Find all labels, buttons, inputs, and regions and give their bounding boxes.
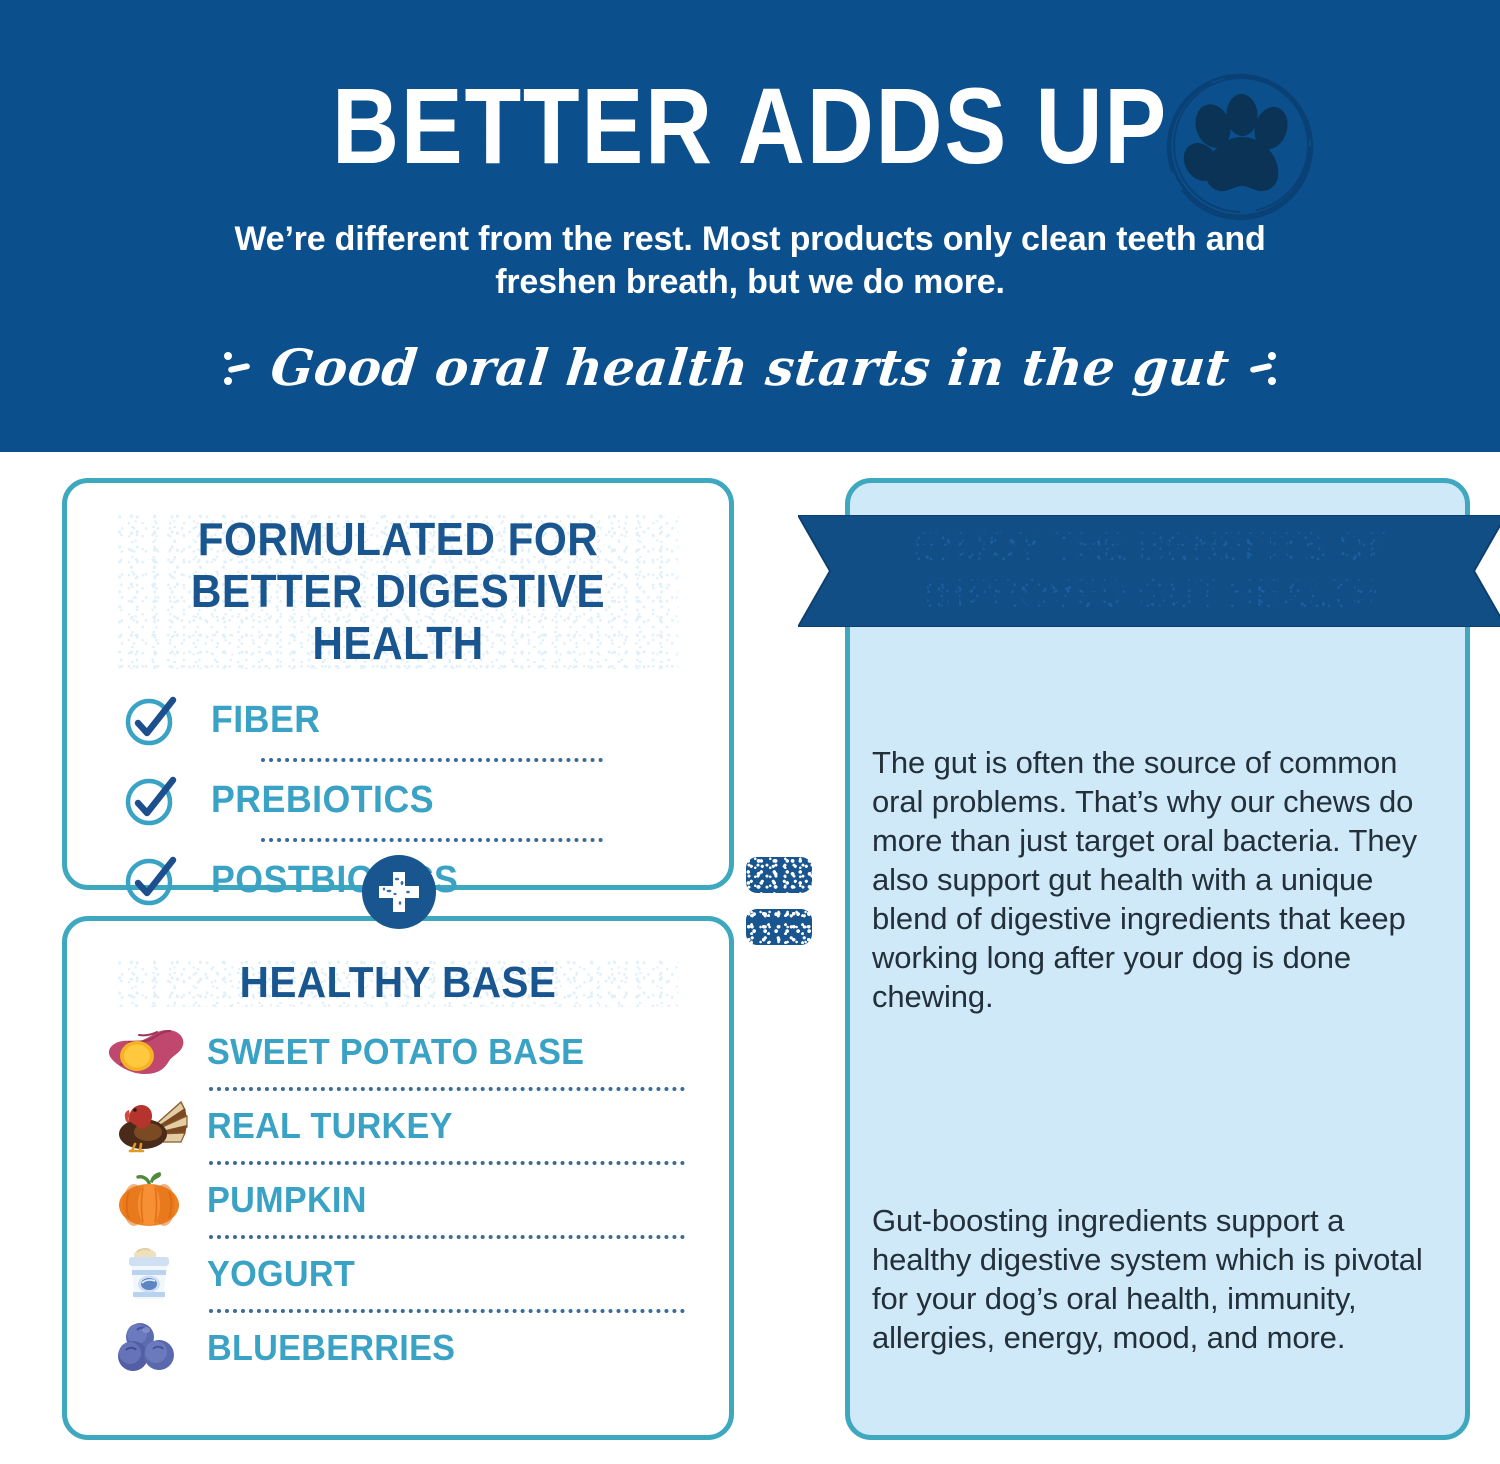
benefit-heading: ATTACK ROOT SOURCE OF ORAL PROBLEMS bbox=[872, 645, 1415, 739]
benefit-block-1: ATTACK ROOT SOURCE OF ORAL PROBLEMS The … bbox=[872, 645, 1450, 1016]
list-item-label: BLUEBERRIES bbox=[207, 1327, 455, 1369]
check-circle-icon bbox=[121, 690, 181, 750]
benefit-body: The gut is often the source of common or… bbox=[872, 743, 1450, 1016]
benefits-ribbon-line2: IMPROVED GUT HEALTH bbox=[925, 571, 1380, 618]
list-item-label: FIBER bbox=[211, 699, 321, 742]
yogurt-cup-icon bbox=[97, 1244, 201, 1304]
header-script-line-wrap: Good oral health starts in the gut bbox=[0, 336, 1500, 400]
pumpkin-icon bbox=[97, 1170, 201, 1230]
equals-icon bbox=[746, 857, 814, 949]
formulated-card: FORMULATED FOR BETTER DIGESTIVE HEALTH F… bbox=[62, 478, 734, 890]
header-banner: BETTER ADDS UP We’re different from the … bbox=[0, 0, 1500, 452]
benefits-ribbon-text: ENJOY THE BENEFITS OF IMPROVED GUT HEALT… bbox=[823, 515, 1481, 627]
header-subtitle: We’re different from the rest. Most prod… bbox=[180, 218, 1320, 304]
paw-print-icon bbox=[1158, 64, 1322, 228]
divider bbox=[209, 1235, 685, 1239]
flourish-right-icon bbox=[1244, 344, 1278, 392]
list-item[interactable]: SWEET POTATO BASE bbox=[97, 1021, 695, 1083]
page-title-text: BETTER ADDS UP bbox=[332, 65, 1168, 186]
list-item-label: PREBIOTICS bbox=[211, 779, 434, 822]
sweet-potato-icon bbox=[97, 1022, 201, 1082]
plus-icon bbox=[362, 855, 436, 929]
turkey-icon bbox=[97, 1096, 201, 1156]
healthy-base-ingredient-list: SWEET POTATO BASE bbox=[67, 1021, 729, 1379]
list-item[interactable]: BLUEBERRIES bbox=[97, 1317, 695, 1379]
benefit-block-2: IMPROVE OVERALL HEALTH THROUGH IMPROVED … bbox=[872, 1056, 1450, 1357]
benefit-body: Gut-boosting ingredients support a healt… bbox=[872, 1201, 1450, 1357]
list-item-label: REAL TURKEY bbox=[207, 1105, 453, 1147]
benefits-content: ATTACK ROOT SOURCE OF ORAL PROBLEMS The … bbox=[872, 645, 1450, 1357]
infographic-page: BETTER ADDS UP We’re different from the … bbox=[0, 0, 1500, 1464]
healthy-base-card-title: HEALTHY BASE bbox=[117, 959, 678, 1007]
equals-bar-bottom bbox=[746, 909, 812, 945]
divider bbox=[209, 1161, 685, 1165]
benefit-heading: IMPROVE OVERALL HEALTH THROUGH IMPROVED … bbox=[872, 1056, 1415, 1197]
flourish-left-icon bbox=[222, 344, 256, 392]
divider bbox=[209, 1309, 685, 1313]
blueberries-icon bbox=[97, 1318, 201, 1378]
divider bbox=[261, 758, 603, 762]
list-item-label: YOGURT bbox=[207, 1253, 355, 1295]
divider bbox=[261, 838, 603, 842]
list-item[interactable]: REAL TURKEY bbox=[97, 1095, 695, 1157]
list-item[interactable]: FIBER bbox=[121, 687, 681, 753]
divider bbox=[209, 1087, 685, 1091]
equals-bar-top bbox=[746, 857, 812, 893]
list-item[interactable]: PREBIOTICS bbox=[121, 767, 681, 833]
list-item[interactable]: YOGURT bbox=[97, 1243, 695, 1305]
check-circle-icon bbox=[121, 770, 181, 830]
healthy-base-card: HEALTHY BASE SWEET POTATO BASE bbox=[62, 916, 734, 1440]
list-item-label: SWEET POTATO BASE bbox=[207, 1031, 584, 1073]
benefits-ribbon: ENJOY THE BENEFITS OF IMPROVED GUT HEALT… bbox=[798, 515, 1500, 627]
formulated-card-title: FORMULATED FOR BETTER DIGESTIVE HEALTH bbox=[117, 513, 678, 669]
header-script-line: Good oral health starts in the gut bbox=[268, 336, 1233, 400]
benefits-ribbon-line1: ENJOY THE BENEFITS OF bbox=[914, 524, 1390, 571]
check-circle-icon bbox=[121, 850, 181, 910]
list-item[interactable]: PUMPKIN bbox=[97, 1169, 695, 1231]
list-item-label: PUMPKIN bbox=[207, 1179, 367, 1221]
